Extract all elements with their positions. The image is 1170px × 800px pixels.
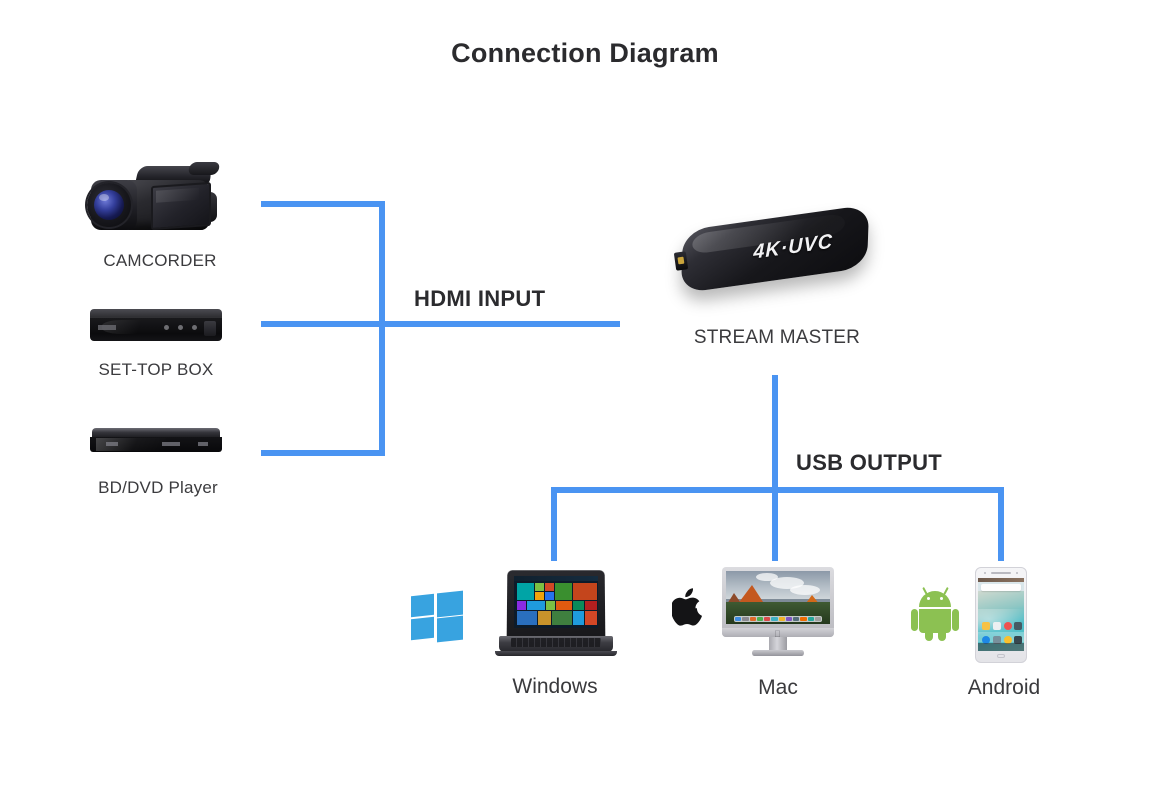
apple-logo-icon [672,586,706,628]
stream-master-hdmi-port [674,251,688,270]
set-top-box-panel [204,321,216,336]
camcorder-lens-glass [94,190,124,220]
laptop-screen-tile [546,601,555,610]
smartphone-screen [978,578,1024,651]
smartphone-front-camera [984,572,986,574]
page-title: Connection Diagram [0,38,1170,69]
smartphone-app-icon[interactable] [993,622,1001,630]
stream-master-label: STREAM MASTER [677,327,877,349]
set-top-box-label: SET-TOP BOX [56,360,256,380]
smartphone-icon [975,567,1027,663]
apple-logo-svg [672,586,706,628]
bd-dvd-player-badge [106,442,118,446]
imac-screen [726,571,830,624]
laptop-screen-tile [552,611,572,625]
windows-logo-pane [411,594,434,617]
laptop-screen-tile [527,601,545,610]
set-top-box-indicator [178,325,183,330]
laptop-screen-tile [517,583,534,600]
laptop-icon [493,570,617,666]
smartphone-app-icon[interactable] [982,622,990,630]
windows-logo-pane [437,616,463,643]
laptop-screen-tile [555,583,572,600]
camcorder-mic [187,162,220,175]
laptop-screen-tile [545,583,554,591]
laptop-front-edge [495,651,617,656]
windows-logo-icon [411,591,463,641]
laptop-screen-topbar [514,576,598,581]
usb-wire-trunk [772,375,778,493]
android-label: Android [904,676,1104,700]
imac-dock-icon[interactable] [742,617,748,621]
imac-dock-icon[interactable] [779,617,785,621]
imac-dock-icon[interactable] [815,617,821,621]
hdmi-input-label: HDMI INPUT [414,286,545,312]
smartphone-sensor [1016,572,1018,574]
imac-dock-icon[interactable] [750,617,756,621]
connection-diagram-canvas: Connection Diagram HDMI INPUT USB OUTPUT… [0,0,1170,800]
laptop-screen-tile [517,611,537,625]
imac-dock-icon[interactable] [793,617,799,621]
android-head [919,591,951,607]
set-top-box-logo [98,325,116,330]
usb-wire-leg-center [772,487,778,561]
android-eye [940,597,943,600]
android-body [919,609,951,633]
usb-wire-leg-left [551,487,557,561]
laptop-screen [514,576,598,628]
android-arm [952,609,959,631]
imac-dock-icon[interactable] [764,617,770,621]
bd-dvd-player-badge [162,442,180,446]
usb-wire-leg-right [998,487,1004,561]
imac-stand-foot [752,650,804,656]
smartphone-status-bar [978,578,1024,582]
laptop-screen-tile [573,611,584,625]
smartphone-home-button[interactable] [997,654,1005,658]
bd-dvd-player-label: BD/DVD Player [58,478,258,498]
set-top-box-indicator [164,325,169,330]
imac-icon:  [722,567,834,663]
imac-wallpaper-cloud [756,573,778,581]
imac-wallpaper-cloud [790,585,820,595]
imac-dock-icon[interactable] [757,617,763,621]
laptop-screen-tile [517,601,526,610]
smartphone-search-bar[interactable] [981,584,1021,591]
imac-dock-icon[interactable] [735,617,741,621]
laptop-screen-tile [535,583,544,591]
imac-dock [734,616,822,622]
hdmi-wire-middle-line [261,321,620,327]
laptop-screen-tile [573,583,597,600]
stream-master-icon: 4K·UVC [675,212,875,298]
laptop-screen-tile [573,601,584,610]
laptop-screen-tile [538,611,551,625]
windows-logo-pane [437,591,463,618]
imac-dock-icon[interactable] [808,617,814,621]
android-leg [938,631,946,641]
laptop-keyboard [511,638,601,647]
laptop-screen-tile [585,611,597,625]
windows-logo-pane [411,617,434,640]
mac-label: Mac [678,676,878,700]
smartphone-earpiece [991,572,1011,574]
imac-stand-neck [769,637,787,651]
laptop-screen-tile [545,592,554,600]
imac-dock-icon[interactable] [786,617,792,621]
bd-dvd-player-icon [90,428,222,454]
camcorder-lcd-screen [151,182,211,230]
smartphone-app-icon[interactable] [1014,622,1022,630]
bd-dvd-player-badge [198,442,208,446]
hdmi-wire-top-stub [261,201,385,207]
smartphone-nav-bar[interactable] [978,643,1024,651]
smartphone-app-icon[interactable] [1004,622,1012,630]
camcorder-icon [85,158,235,240]
imac-dock-icon[interactable] [771,617,777,621]
camcorder-label: CAMCORDER [60,251,260,271]
android-arm [911,609,918,631]
laptop-screen-tile [585,601,597,610]
android-leg [925,631,933,641]
set-top-box-icon [90,309,222,343]
laptop-screen-tile [556,601,572,610]
hdmi-wire-trunk [379,201,385,456]
android-robot-icon [912,589,958,641]
imac-dock-icon[interactable] [800,617,806,621]
usb-output-label: USB OUTPUT [796,450,942,476]
set-top-box-indicator [192,325,197,330]
windows-label: Windows [455,675,655,699]
laptop-screen-tile [535,592,544,600]
hdmi-wire-bottom-stub [261,450,385,456]
android-eye [927,597,930,600]
